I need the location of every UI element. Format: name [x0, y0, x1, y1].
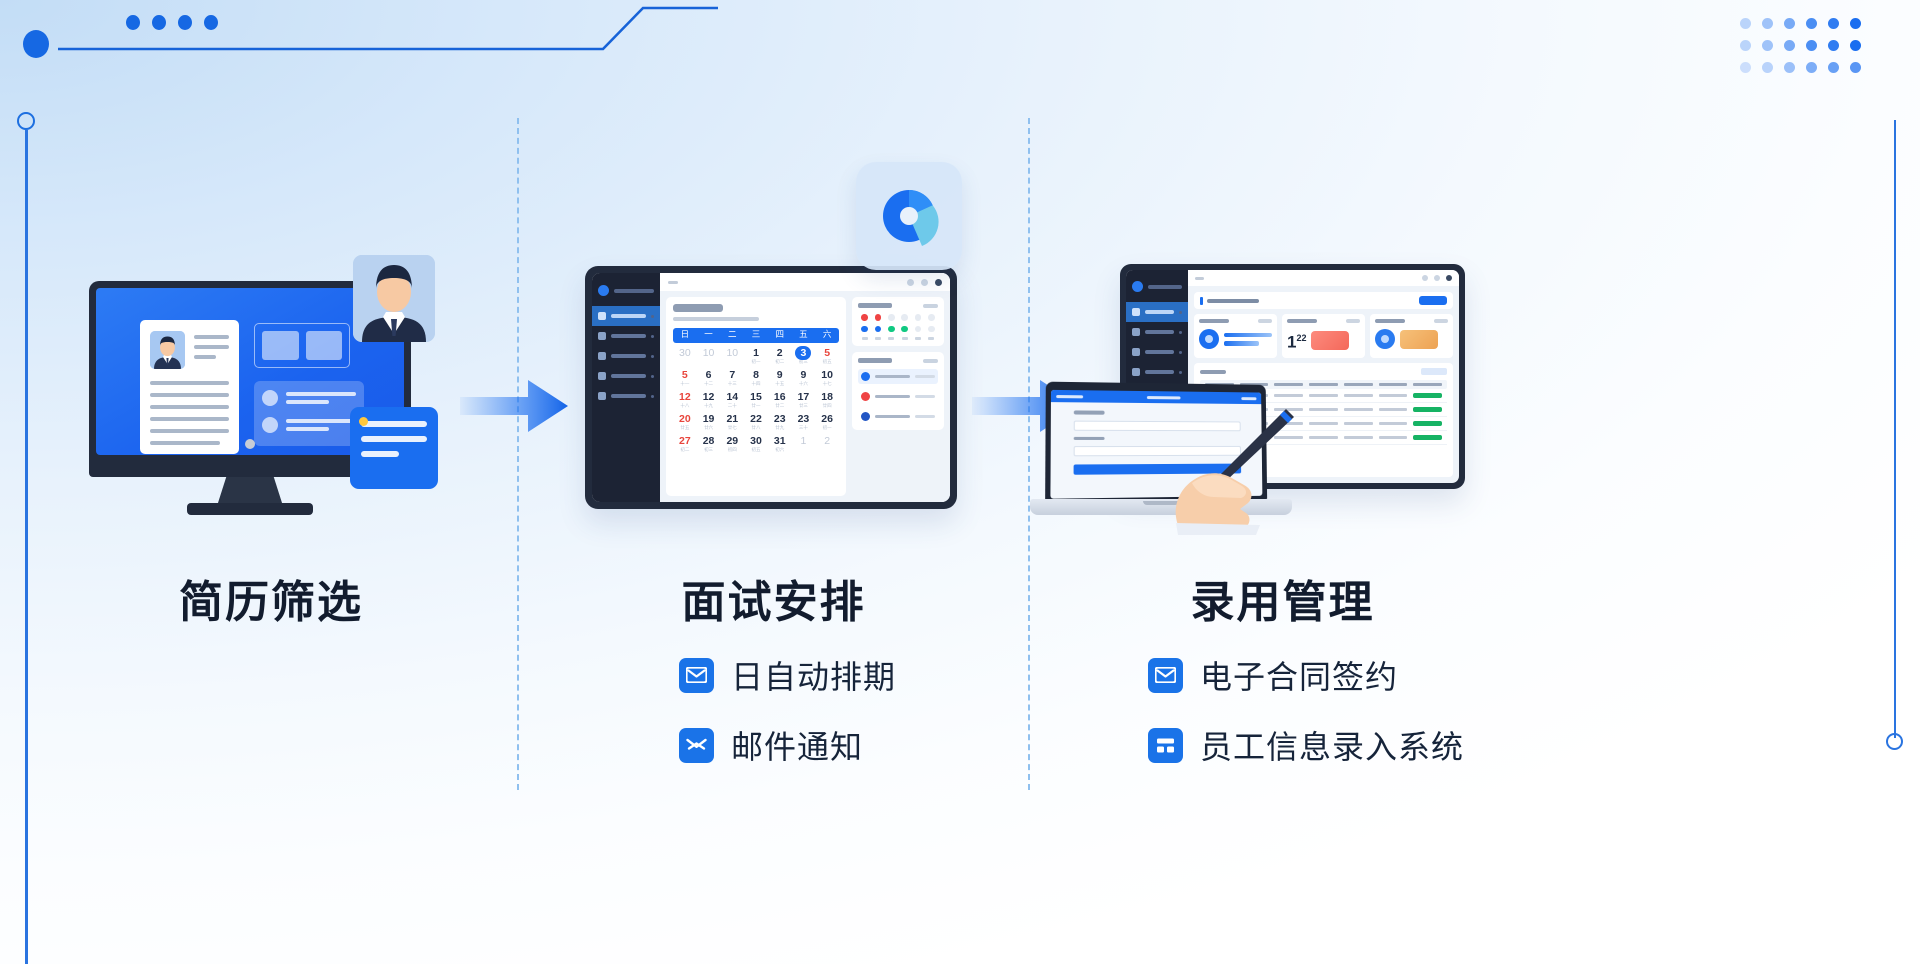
calendar-day-cell[interactable]: 2初二 — [768, 346, 792, 367]
calendar-panel: 日一二三四五六 3010101初一2初二3初三5初五5十一6十二7十三8十四9十… — [666, 297, 846, 496]
pie-chart-icon — [877, 184, 941, 248]
decor-dot-grid — [1740, 18, 1872, 84]
app-main: 日一二三四五六 3010101初一2初二3初三5初五5十一6十二7十三8十四9十… — [660, 273, 950, 502]
tablet-device: 日一二三四五六 3010101初一2初二3初三5初五5十一6十二7十三8十四9十… — [585, 266, 957, 509]
calendar-day-sublabel: 十三 — [720, 381, 744, 387]
calendar-day-sublabel: 廿三 — [792, 403, 816, 409]
status-labels — [858, 337, 938, 340]
avatar-illustration-small — [150, 331, 185, 369]
status-dot-grid — [858, 314, 938, 332]
table-progress-badge — [1413, 407, 1442, 412]
calendar-day-cell[interactable]: 19廿六 — [697, 412, 721, 433]
hand-with-stylus-illustration — [1148, 405, 1298, 535]
decor-grid-dot — [1740, 62, 1751, 73]
status-dot — [915, 314, 922, 321]
decor-grid-dot — [1806, 18, 1817, 29]
schedule-list-item[interactable] — [858, 389, 938, 404]
monitor-stand-neck — [217, 477, 283, 506]
search-icon[interactable] — [1422, 275, 1428, 281]
status-dot — [928, 326, 935, 333]
calendar-day-number: 12 — [673, 391, 697, 403]
calendar-day-sublabel: 廿八 — [744, 425, 768, 431]
pie-chart-badge — [856, 162, 962, 270]
decor-grid-dot — [1784, 18, 1795, 29]
calendar-day-number: 26 — [815, 413, 839, 425]
tablet-screen: 日一二三四五六 3010101初一2初二3初三5初五5十一6十二7十三8十四9十… — [592, 273, 950, 502]
step-title: 录用管理 — [1030, 566, 1535, 630]
calendar-day-number: 15 — [744, 391, 768, 403]
calendar-day-number: 30 — [744, 435, 768, 447]
table-cell — [1379, 394, 1408, 397]
calendar-day-sublabel: 十四 — [744, 381, 768, 387]
calendar-day-sublabel: 初五 — [744, 447, 768, 453]
feature-label: 日自动排期 — [731, 652, 896, 698]
calendar-day-sublabel: 三十 — [792, 425, 816, 431]
calendar-day-number: 30 — [673, 347, 697, 359]
calendar-day-sublabel: 廿六 — [697, 425, 721, 431]
calendar-subtitle — [673, 317, 759, 321]
calendar-day-number: 1 — [792, 435, 816, 447]
list-item — [262, 417, 356, 433]
status-dot — [875, 314, 882, 321]
floating-avatar-card — [353, 255, 435, 342]
resume-body-lines — [150, 381, 229, 445]
bell-icon[interactable] — [907, 279, 914, 286]
calendar-day-sublabel: 十六 — [792, 381, 816, 387]
status-dot — [888, 326, 895, 333]
schedule-item-label — [875, 375, 910, 379]
schedule-list — [858, 369, 938, 424]
calendar-day-number: 7 — [720, 369, 744, 381]
calendar-weekday-header: 日一二三四五六 — [673, 328, 839, 343]
feature-list: 日自动排期 邮件通知 — [679, 652, 896, 768]
schedule-list-card — [852, 352, 944, 430]
avatar-illustration-large — [353, 255, 435, 342]
sticky-note-card — [350, 407, 438, 489]
decor-grid-dot — [1784, 40, 1795, 51]
sidebar-item[interactable] — [592, 366, 660, 386]
apps-icon[interactable] — [921, 279, 928, 286]
feature-item: 员工信息录入系统 — [1148, 722, 1464, 768]
calendar-day-sublabel: 十一 — [673, 381, 697, 387]
calendar-day-cell[interactable]: 9十六 — [792, 368, 816, 389]
user-icon — [1375, 329, 1395, 349]
decor-vertical-line-right — [1894, 120, 1897, 738]
screen-tile-group — [254, 323, 350, 368]
table-cell — [1344, 394, 1373, 397]
resume-card — [140, 320, 239, 454]
feature-item: 电子合同签约 — [1148, 652, 1464, 698]
page-header-bar — [1194, 292, 1453, 309]
calendar-day-number: 2 — [815, 435, 839, 447]
form-label — [1074, 410, 1105, 414]
decor-grid-dot — [1762, 18, 1773, 29]
table-progress-badge — [1413, 393, 1442, 398]
calendar-day-sublabel: 初二 — [768, 359, 792, 365]
calendar-day-number: 5 — [815, 347, 839, 359]
sidebar-item[interactable] — [1126, 322, 1188, 342]
decor-grid-dot — [1850, 40, 1861, 51]
status-badge-red — [1311, 331, 1349, 350]
calendar-day-cell[interactable]: 28初三 — [697, 434, 721, 455]
calendar-day-number: 10 — [720, 347, 744, 359]
breadcrumb — [668, 281, 678, 284]
schedule-item-label — [875, 415, 910, 419]
calendar-day-sublabel: 廿二 — [768, 403, 792, 409]
step-title: 简历筛选 — [25, 566, 517, 630]
calendar-day-number: 10 — [697, 347, 721, 359]
app-sidebar — [592, 273, 660, 502]
table-cell — [1309, 408, 1338, 411]
calendar-day-cell[interactable]: 6十二 — [697, 368, 721, 389]
calendar-day-sublabel: 廿一 — [744, 403, 768, 409]
primary-action-button[interactable] — [1419, 296, 1447, 305]
calendar-day-sublabel: 十七 — [815, 381, 839, 387]
calendar-day-cell[interactable]: 5十一 — [673, 368, 697, 389]
schedule-item-time — [915, 375, 935, 379]
calendar-day-cell[interactable]: 10 — [720, 346, 744, 367]
calendar-day-sublabel: 二十 — [720, 403, 744, 409]
calendar-weekday: 五 — [792, 328, 816, 343]
sidebar-item[interactable] — [592, 326, 660, 346]
calendar-weekday: 六 — [815, 328, 839, 343]
app-body: 日一二三四五六 3010101初一2初二3初三5初五5十一6十二7十三8十四9十… — [660, 291, 950, 502]
resume-name-lines — [194, 331, 229, 369]
calendar-day-cell[interactable]: 31初六 — [768, 434, 792, 455]
status-dot — [901, 314, 908, 321]
app-logo — [1126, 277, 1188, 302]
status-dot — [888, 314, 895, 321]
calendar-day-cell[interactable]: 8十四 — [744, 368, 768, 389]
sidebar-item[interactable] — [592, 346, 660, 366]
form-label — [1074, 436, 1105, 440]
status-dots-card — [852, 297, 944, 346]
calendar-day-cell[interactable]: 27初二 — [673, 434, 697, 455]
calendar-day-sublabel: 初五 — [815, 359, 839, 365]
stat-card — [1370, 314, 1453, 358]
calendar-day-cell[interactable]: 10十七 — [815, 368, 839, 389]
calendar-day-cell[interactable]: 22廿八 — [744, 412, 768, 433]
layout-grid-icon — [1148, 728, 1183, 763]
resume-photo — [150, 331, 185, 369]
table-filter-button[interactable] — [1421, 368, 1447, 375]
donut-icon — [1199, 329, 1219, 349]
table-cell — [1344, 436, 1373, 439]
calendar-day-sublabel: 廿九 — [768, 425, 792, 431]
calendar-day-cell[interactable]: 23三十 — [792, 412, 816, 433]
calendar-day-number: 21 — [720, 413, 744, 425]
calendar-side-panel — [852, 297, 944, 496]
schedule-item-time — [915, 395, 935, 399]
step-interview-scheduling: 日一二三四五六 3010101初一2初二3初三5初五5十一6十二7十三8十四9十… — [519, 0, 1028, 964]
envelope-icon — [679, 658, 714, 693]
schedule-item-time — [915, 415, 935, 419]
calendar-day-number: 23 — [768, 413, 792, 425]
calendar-day-number: 10 — [815, 369, 839, 381]
calendar-day-sublabel: 初三 — [792, 359, 816, 365]
calendar-day-cell[interactable]: 20廿五 — [673, 412, 697, 433]
calendar-day-sublabel: 初一 — [744, 359, 768, 365]
stat-card-row: 122 — [1194, 314, 1453, 358]
calendar-day-number: 8 — [744, 369, 768, 381]
step-title: 面试安排 — [519, 566, 1028, 630]
calendar-day-number: 23 — [792, 413, 816, 425]
calendar-day-number: 22 — [744, 413, 768, 425]
calendar-day-number: 6 — [697, 369, 721, 381]
calendar-day-cell[interactable]: 23廿九 — [768, 412, 792, 433]
calendar-day-cell[interactable]: 17廿三 — [792, 390, 816, 411]
status-dot — [901, 326, 908, 333]
envelope-open-icon — [679, 728, 714, 763]
schedule-status-dot — [861, 412, 870, 421]
calendar-day-cell[interactable]: 10 — [697, 346, 721, 367]
status-dot — [861, 314, 868, 321]
calendar-weekday: 日 — [673, 328, 697, 343]
calendar-day-cell[interactable]: 14二十 — [720, 390, 744, 411]
app-logo — [592, 281, 660, 306]
sidebar-item[interactable] — [592, 306, 660, 326]
table-title — [1200, 370, 1226, 374]
screen-list-card — [254, 381, 364, 446]
calendar-day-cell[interactable]: 12十九 — [697, 390, 721, 411]
decor-ring-bottom-right — [1886, 733, 1903, 750]
calendar-weekday: 三 — [744, 328, 768, 343]
calendar-day-cell[interactable]: 1初一 — [744, 346, 768, 367]
feature-item: 邮件通知 — [679, 722, 896, 768]
calendar-day-cell[interactable]: 29初四 — [720, 434, 744, 455]
calendar-day-cell[interactable]: 18廿四 — [815, 390, 839, 411]
decor-grid-dot — [1828, 40, 1839, 51]
bell-icon[interactable] — [1434, 275, 1440, 281]
calendar-weekday: 一 — [697, 328, 721, 343]
calendar-day-cell[interactable]: 15廿一 — [744, 390, 768, 411]
monitor-stand-base — [187, 503, 313, 515]
sidebar-item[interactable] — [1126, 302, 1188, 322]
schedule-status-dot — [861, 392, 870, 401]
calendar-day-number: 12 — [697, 391, 721, 403]
step-offer-management: 122 — [1030, 0, 1535, 964]
sidebar-item[interactable] — [592, 386, 660, 406]
calendar-day-number: 9 — [768, 369, 792, 381]
feature-list: 电子合同签约 员工信息录入系统 — [1148, 652, 1464, 768]
calendar-grid: 3010101初一2初二3初三5初五5十一6十二7十三8十四9十五9十六10十七… — [673, 346, 839, 455]
calendar-day-number: 9 — [792, 369, 816, 381]
status-dot — [875, 326, 882, 333]
status-dot — [928, 314, 935, 321]
calendar-day-number: 3 — [792, 347, 816, 359]
monitor-camera-dot — [245, 439, 255, 449]
laptop-device — [1030, 383, 1292, 533]
schedule-list-item[interactable] — [858, 369, 938, 384]
calendar-day-cell[interactable]: 21廿七 — [720, 412, 744, 433]
calendar-weekday: 四 — [768, 328, 792, 343]
table-cell — [1344, 408, 1373, 411]
app-topbar — [660, 273, 950, 291]
calendar-day-number: 18 — [815, 391, 839, 403]
status-badge-orange — [1400, 330, 1438, 349]
sidebar-item[interactable] — [1126, 362, 1188, 382]
avatar[interactable] — [935, 279, 942, 286]
calendar-day-sublabel: 初二 — [673, 447, 697, 453]
decor-grid-dot — [1740, 40, 1751, 51]
sticky-note-dot — [359, 417, 368, 426]
app-topbar — [1188, 270, 1459, 286]
calendar-day-number: 28 — [697, 435, 721, 447]
status-dot — [861, 326, 868, 333]
calendar-day-number: 19 — [697, 413, 721, 425]
status-dot — [915, 326, 922, 333]
calendar-day-number: 16 — [768, 391, 792, 403]
feature-label: 邮件通知 — [731, 722, 863, 768]
table-cell — [1379, 422, 1408, 425]
schedule-item-label — [875, 395, 910, 399]
feature-item: 日自动排期 — [679, 652, 896, 698]
calendar-day-cell[interactable]: 26初一 — [815, 412, 839, 433]
resume-header — [150, 331, 229, 369]
schedule-status-dot — [861, 372, 870, 381]
calendar-day-number: 2 — [768, 347, 792, 359]
table-progress-badge — [1413, 435, 1442, 440]
calendar-title — [673, 304, 723, 312]
calendar-day-number: 20 — [673, 413, 697, 425]
step-resume-screening: 简历筛选 — [25, 0, 517, 964]
decor-grid-dot — [1762, 40, 1773, 51]
calendar-day-cell[interactable]: 3初三 — [792, 346, 816, 367]
calendar-day-number: 14 — [720, 391, 744, 403]
breadcrumb — [1195, 277, 1204, 280]
sidebar-item[interactable] — [1126, 342, 1188, 362]
calendar-day-cell[interactable]: 1 — [792, 434, 816, 455]
stat-card: 122 — [1282, 314, 1365, 358]
calendar-day-cell[interactable]: 7十三 — [720, 368, 744, 389]
schedule-list-item[interactable] — [858, 409, 938, 424]
calendar-day-sublabel: 十八 — [673, 403, 697, 409]
calendar-day-cell[interactable]: 30初五 — [744, 434, 768, 455]
decor-grid-dot — [1762, 62, 1773, 73]
decor-grid-dot — [1828, 18, 1839, 29]
calendar-day-sublabel: 初六 — [768, 447, 792, 453]
stat-value: 122 — [1287, 329, 1306, 352]
calendar-day-number: 17 — [792, 391, 816, 403]
table-cell — [1309, 394, 1338, 397]
calendar-weekday: 二 — [720, 328, 744, 343]
calendar-day-sublabel: 十九 — [697, 403, 721, 409]
table-cell — [1309, 422, 1338, 425]
table-cell — [1379, 408, 1408, 411]
decor-grid-dot — [1806, 62, 1817, 73]
table-cell — [1379, 436, 1408, 439]
feature-label: 电子合同签约 — [1200, 652, 1398, 698]
calendar-day-sublabel: 十二 — [697, 381, 721, 387]
calendar-day-number: 29 — [720, 435, 744, 447]
calendar-day-sublabel: 廿七 — [720, 425, 744, 431]
decor-grid-dot — [1850, 62, 1861, 73]
table-progress-badge — [1413, 421, 1442, 426]
decor-grid-dot — [1740, 18, 1751, 29]
calendar-day-number: 1 — [744, 347, 768, 359]
calendar-day-cell[interactable]: 12十八 — [673, 390, 697, 411]
calendar-day-cell[interactable]: 2 — [815, 434, 839, 455]
decor-grid-dot — [1806, 40, 1817, 51]
calendar-day-sublabel: 初三 — [697, 447, 721, 453]
calendar-day-cell[interactable]: 5初五 — [815, 346, 839, 367]
calendar-day-number: 5 — [673, 369, 697, 381]
calendar-day-number: 31 — [768, 435, 792, 447]
calendar-day-sublabel: 廿五 — [673, 425, 697, 431]
calendar-day-sublabel: 十五 — [768, 381, 792, 387]
stat-card — [1194, 314, 1277, 358]
decor-grid-dot — [1784, 62, 1795, 73]
decor-grid-dot — [1828, 62, 1839, 73]
avatar[interactable] — [1446, 275, 1452, 281]
calendar-day-sublabel: 初一 — [815, 425, 839, 431]
list-item — [262, 390, 356, 406]
infographic-canvas: 简历筛选 — [0, 0, 1920, 964]
envelope-icon — [1148, 658, 1183, 693]
calendar-day-number: 27 — [673, 435, 697, 447]
decor-grid-dot — [1850, 18, 1861, 29]
calendar-day-sublabel: 廿四 — [815, 403, 839, 409]
calendar-day-sublabel: 初四 — [720, 447, 744, 453]
calendar-day-cell[interactable]: 30 — [673, 346, 697, 367]
feature-label: 员工信息录入系统 — [1200, 722, 1464, 768]
table-cell — [1309, 436, 1338, 439]
table-cell — [1344, 422, 1373, 425]
calendar-day-cell[interactable]: 9十五 — [768, 368, 792, 389]
calendar-day-cell[interactable]: 16廿二 — [768, 390, 792, 411]
